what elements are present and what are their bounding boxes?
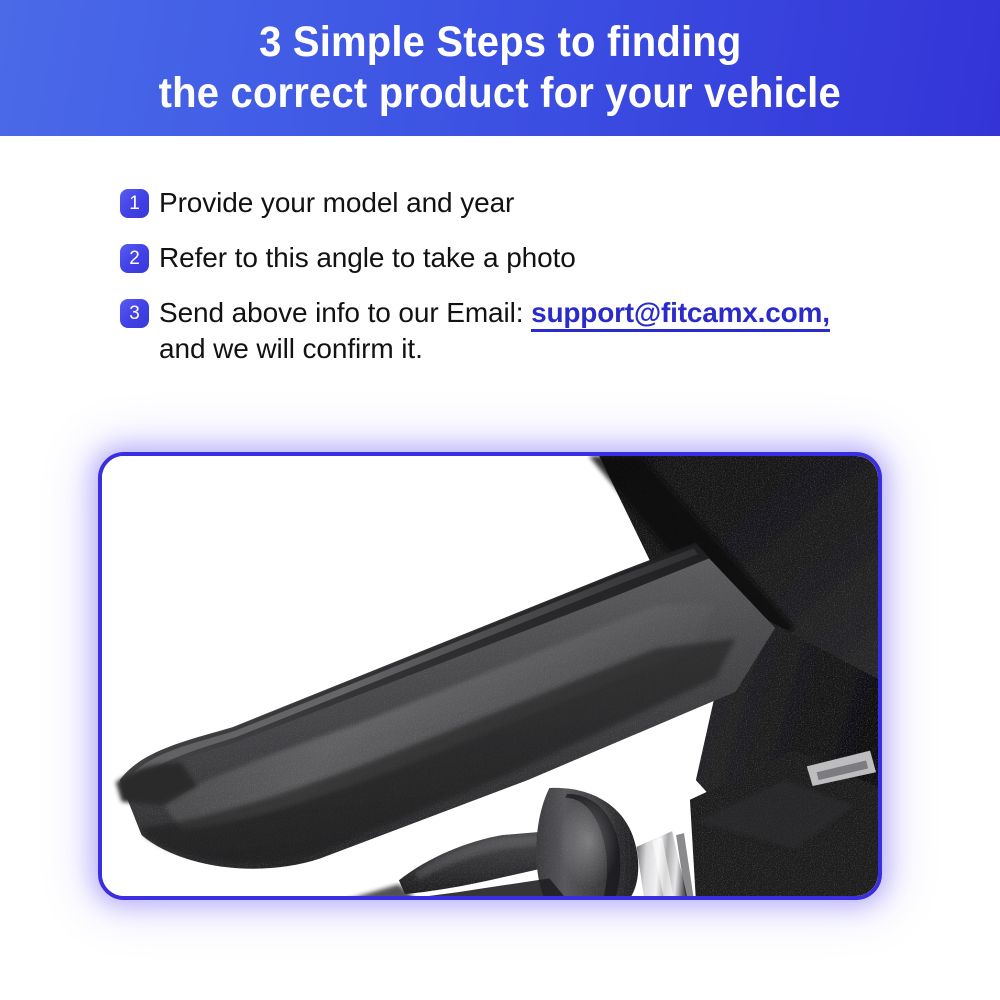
- reference-photo-frame: [98, 452, 882, 900]
- support-email-link[interactable]: support@fitcamx.com,: [531, 297, 830, 332]
- page-root: 3 Simple Steps to finding the correct pr…: [0, 0, 1000, 1000]
- step-label-3: Send above info to our Email: support@fi…: [159, 295, 830, 367]
- step-item-1: 1 Provide your model and year: [120, 185, 920, 221]
- step-number-badge-2: 2: [120, 244, 149, 273]
- step-3-suffix-text: and we will confirm it.: [159, 331, 830, 367]
- step-item-3: 3 Send above info to our Email: support@…: [120, 295, 920, 367]
- step-label-1: Provide your model and year: [159, 185, 514, 221]
- reference-photo: [102, 456, 878, 896]
- car-interior-photo-illustration: [102, 456, 878, 896]
- steps-list: 1 Provide your model and year 2 Refer to…: [120, 185, 920, 386]
- step-item-2: 2 Refer to this angle to take a photo: [120, 240, 920, 276]
- banner-title-line1: 3 Simple Steps to finding: [259, 17, 741, 68]
- step-number-badge-1: 1: [120, 189, 149, 218]
- step-label-2: Refer to this angle to take a photo: [159, 240, 576, 276]
- step-number-badge-3: 3: [120, 299, 149, 328]
- step-3-prefix-text: Send above info to our Email:: [159, 297, 523, 328]
- banner-title-line2: the correct product for your vehicle: [159, 68, 841, 119]
- header-banner: 3 Simple Steps to finding the correct pr…: [0, 0, 1000, 136]
